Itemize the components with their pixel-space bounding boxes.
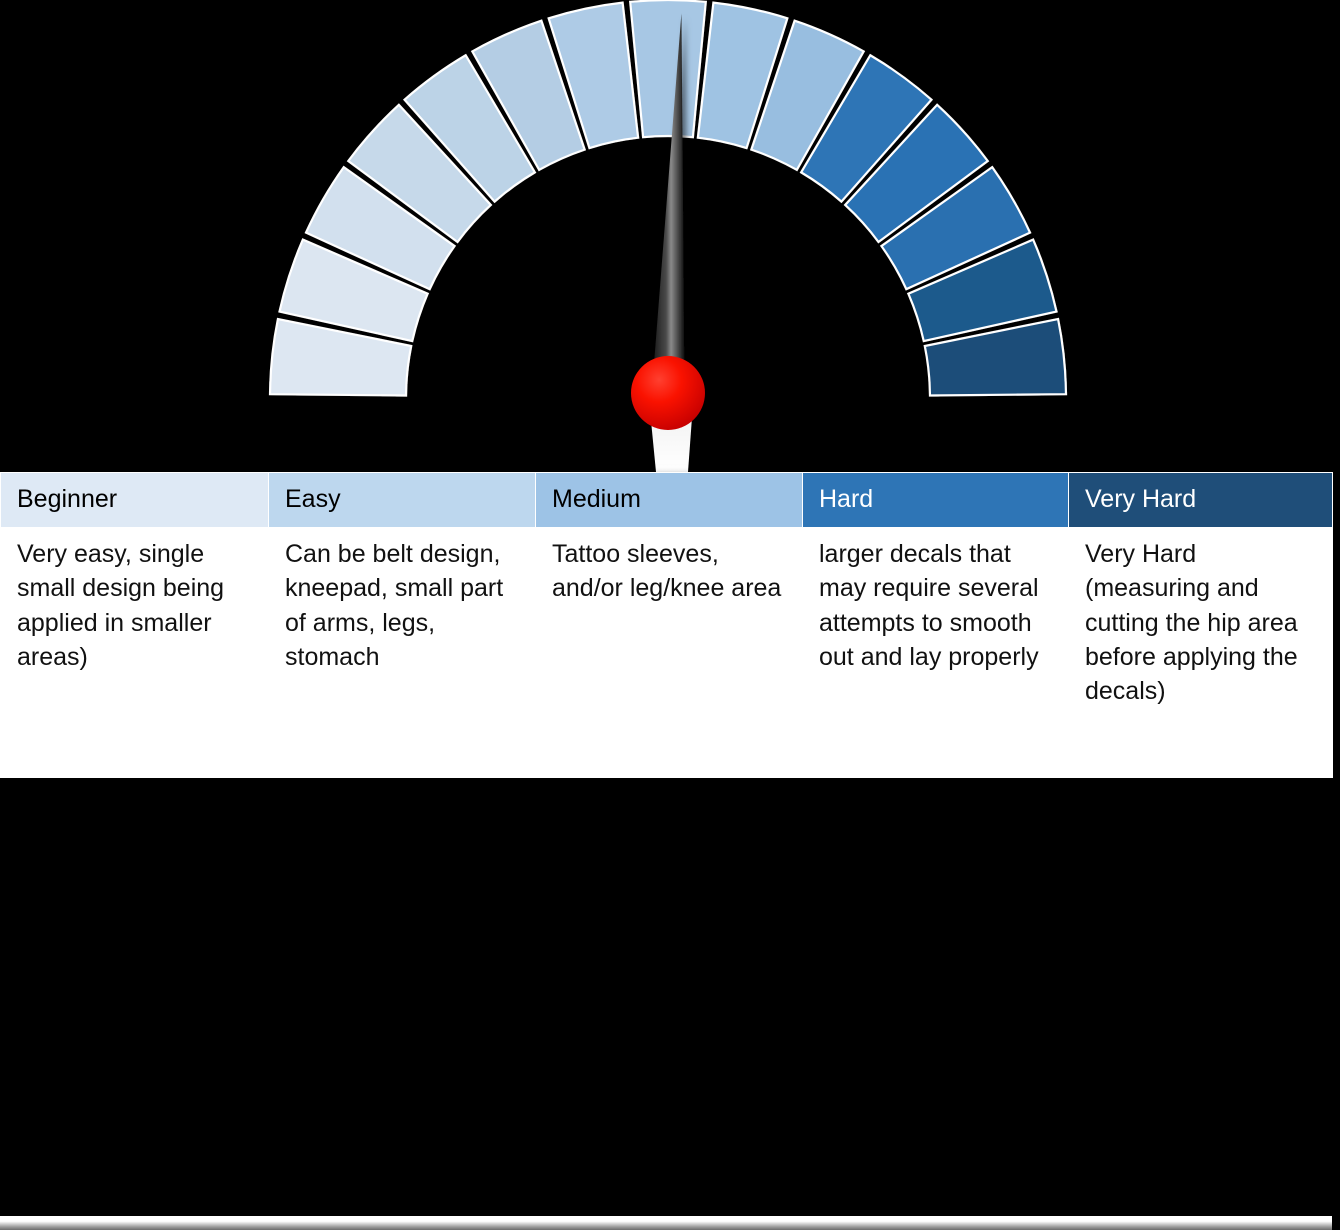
column-header-hard[interactable]: Hard — [803, 473, 1069, 528]
table-header-row: Beginner Easy Medium Hard Very Hard — [1, 473, 1333, 528]
cell-easy-description: Can be belt design, kneepad, small part … — [269, 528, 536, 778]
gauge-segment-8 — [630, 0, 706, 137]
cell-medium-description: Tattoo sleeves, and/or leg/knee area — [536, 528, 803, 778]
column-header-very-hard[interactable]: Very Hard — [1069, 473, 1333, 528]
column-header-beginner[interactable]: Beginner — [1, 473, 269, 528]
cell-beginner-description: Very easy, single small design being app… — [1, 528, 269, 778]
gauge-chart — [0, 0, 1340, 472]
difficulty-matrix-panel: Beginner Easy Medium Hard Very Hard Very… — [0, 472, 1332, 758]
slide-canvas: Beginner Easy Medium Hard Very Hard Very… — [0, 0, 1340, 778]
cell-hard-description: larger decals that may require several a… — [803, 528, 1069, 778]
table-row: Very easy, single small design being app… — [1, 528, 1333, 778]
needle-hub — [631, 356, 705, 430]
column-header-medium[interactable]: Medium — [536, 473, 803, 528]
column-header-easy[interactable]: Easy — [269, 473, 536, 528]
difficulty-table: Beginner Easy Medium Hard Very Hard Very… — [0, 472, 1333, 778]
cell-very-hard-description: Very Hard (measuring and cutting the hip… — [1069, 528, 1333, 778]
panel-bottom-edge — [0, 1216, 1332, 1230]
gauge-svg — [0, 0, 1340, 472]
